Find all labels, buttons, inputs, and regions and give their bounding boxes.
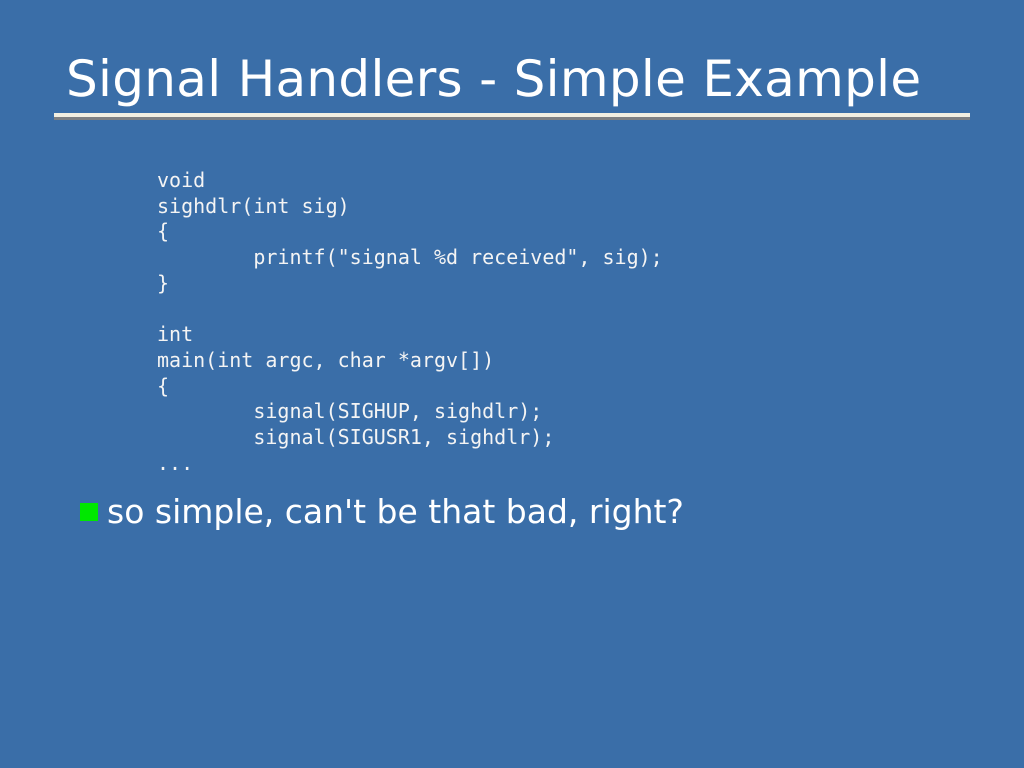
code-line: signal(SIGUSR1, sighdlr);: [157, 425, 663, 451]
code-line: printf("signal %d received", sig);: [157, 245, 663, 271]
code-line: sighdlr(int sig): [157, 194, 663, 220]
code-line: signal(SIGHUP, sighdlr);: [157, 399, 663, 425]
bullet-list: so simple, can't be that bad, right?: [80, 488, 980, 536]
bullet-item-label: so simple, can't be that bad, right?: [107, 492, 684, 532]
slide-title-block: Signal Handlers - Simple Example: [54, 46, 970, 122]
code-line: }: [157, 271, 663, 297]
list-item: so simple, can't be that bad, right?: [80, 488, 980, 536]
code-listing: voidsighdlr(int sig){ printf("signal %d …: [157, 168, 663, 476]
presentation-slide: Signal Handlers - Simple Example voidsig…: [0, 0, 1024, 768]
code-line: main(int argc, char *argv[]): [157, 348, 663, 374]
code-line: void: [157, 168, 663, 194]
page-title: Signal Handlers - Simple Example: [66, 46, 921, 112]
code-line: {: [157, 374, 663, 400]
code-line-blank: [157, 296, 663, 322]
title-divider-shadow: [54, 117, 970, 120]
code-line: int: [157, 322, 663, 348]
square-bullet-icon: [80, 503, 98, 521]
code-line-ellipsis: ...: [157, 451, 663, 477]
title-divider: [54, 113, 970, 120]
code-line: {: [157, 219, 663, 245]
